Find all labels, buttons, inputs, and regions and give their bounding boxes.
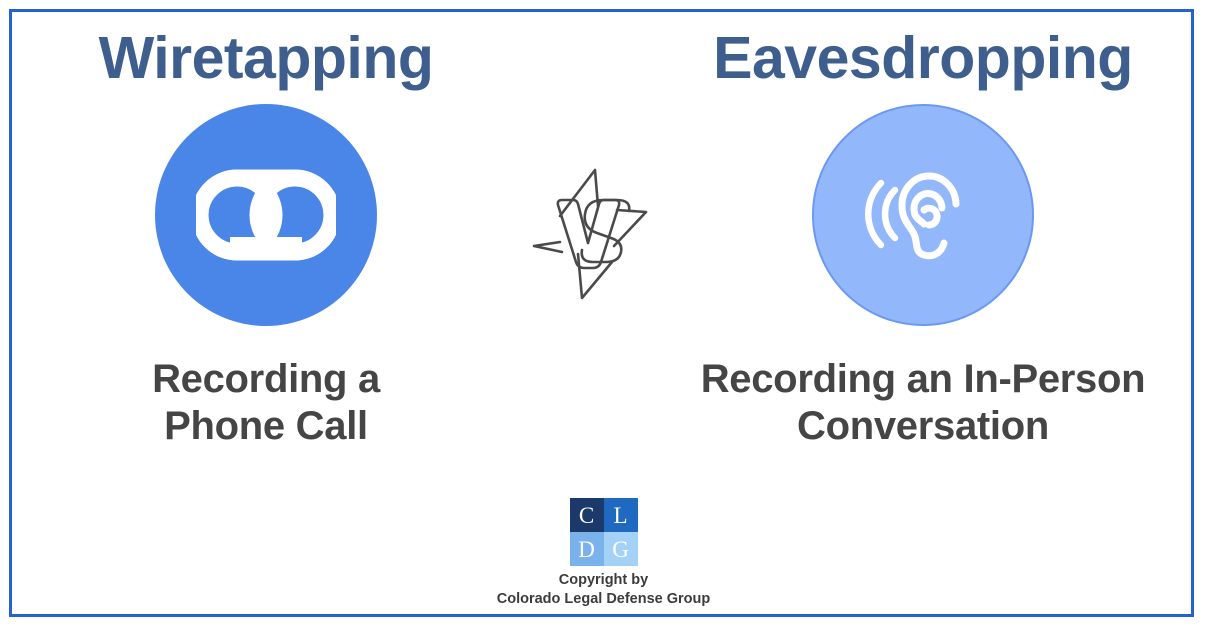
eavesdropping-caption-line2: Conversation xyxy=(701,403,1146,450)
eavesdropping-icon-circle xyxy=(812,104,1034,326)
footer: C L D G Copyright by Colorado Legal Defe… xyxy=(0,498,1207,609)
wiretapping-caption-line2: Phone Call xyxy=(152,403,380,450)
infographic-canvas: Wiretapping Recording a Phone Call xyxy=(0,0,1207,636)
wiretapping-caption: Recording a Phone Call xyxy=(152,356,380,450)
wiretapping-caption-line1: Recording a xyxy=(152,356,380,403)
copyright-line1: Copyright by xyxy=(497,571,711,590)
eavesdropping-caption: Recording an In-Person Conversation xyxy=(701,356,1146,450)
logo-tile-l: L xyxy=(604,498,638,532)
wiretapping-icon-wrap xyxy=(155,104,377,326)
versus-star-icon xyxy=(516,158,666,308)
logo-tile-c: C xyxy=(570,498,604,532)
wiretapping-icon-circle xyxy=(155,104,377,326)
comparison-column-eavesdropping: Eavesdropping xyxy=(658,28,1188,450)
cldg-logo: C L D G xyxy=(570,498,638,566)
logo-tile-g: G xyxy=(604,532,638,566)
comparison-column-wiretapping: Wiretapping Recording a Phone Call xyxy=(16,28,516,450)
versus-badge xyxy=(516,158,666,308)
logo-tile-d: D xyxy=(570,532,604,566)
eavesdropping-icon-wrap xyxy=(812,104,1034,326)
copyright-line2: Colorado Legal Defense Group xyxy=(497,590,711,609)
wiretapping-title: Wiretapping xyxy=(99,28,434,90)
ear-listening-icon xyxy=(858,150,988,280)
eavesdropping-caption-line1: Recording an In-Person xyxy=(701,356,1146,403)
copyright-notice: Copyright by Colorado Legal Defense Grou… xyxy=(497,571,711,609)
eavesdropping-title: Eavesdropping xyxy=(713,28,1133,90)
voicemail-icon xyxy=(196,145,336,285)
